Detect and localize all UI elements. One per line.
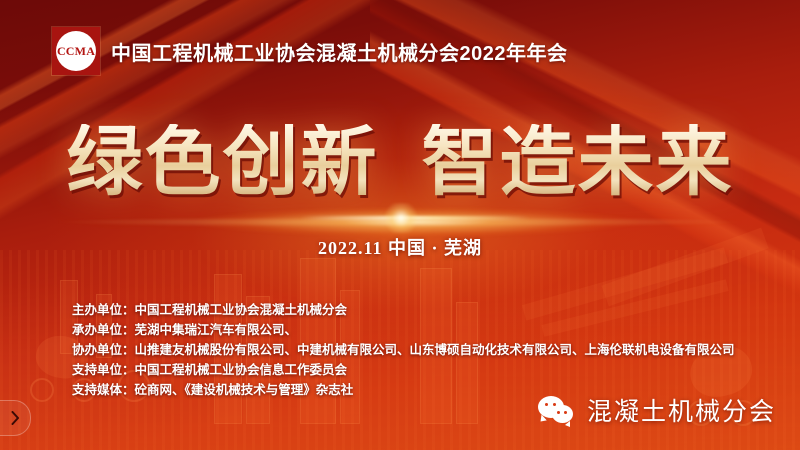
chevron-right-icon: [11, 411, 20, 425]
wechat-icon: [538, 395, 576, 425]
main-title-part1: 绿色创新: [67, 124, 379, 200]
light-flare-burst: [382, 203, 420, 233]
ccma-logo-text: CCMA: [57, 44, 95, 59]
wechat-bubble-small: [552, 405, 573, 423]
conference-poster: CCMA 中国工程机械工业协会混凝土机械分会2022年年会 绿色创新 智造未来 …: [0, 0, 800, 450]
ccma-logo-circle: CCMA: [56, 31, 96, 71]
wechat-badge: 混凝土机械分会: [538, 392, 776, 428]
credit-line-host: 承办单位：芜湖中集瑞江汽车有限公司、: [72, 320, 735, 340]
date-location-line: 2022.11 中国 · 芜湖: [0, 234, 800, 260]
credit-line-supporter: 支持单位：中国工程机械工业协会信息工作委员会: [72, 360, 735, 380]
credit-line-coorganizer: 协办单位：山推建友机械股份有限公司、中建机械有限公司、山东博硕自动化技术有限公司…: [72, 340, 735, 360]
credit-line-organizer: 主办单位：中国工程机械工业协会混凝土机械分会: [72, 300, 735, 320]
next-slide-button[interactable]: [0, 400, 31, 436]
poster-header: CCMA 中国工程机械工业协会混凝土机械分会2022年年会: [52, 27, 568, 75]
credits-block: 主办单位：中国工程机械工业协会混凝土机械分会 承办单位：芜湖中集瑞江汽车有限公司…: [72, 300, 735, 400]
ccma-logo: CCMA: [52, 27, 100, 75]
header-title: 中国工程机械工业协会混凝土机械分会2022年年会: [111, 37, 568, 66]
main-title-part2: 智造未来: [421, 124, 733, 200]
main-title: 绿色创新 智造未来: [0, 124, 800, 200]
wechat-account-name: 混凝土机械分会: [587, 392, 776, 428]
